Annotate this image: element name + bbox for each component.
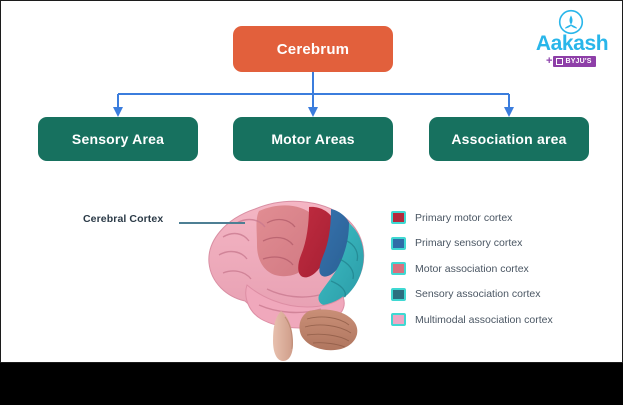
screenshot-root: Cerebrum Sensory Area Motor Areas Associ… bbox=[0, 0, 623, 405]
logo-byjus-label: BYJU'S bbox=[553, 56, 595, 67]
legend-item-primary-motor-cortex: Primary motor cortex bbox=[391, 205, 591, 231]
brain-illustration bbox=[197, 193, 387, 361]
byjus-square-icon bbox=[556, 58, 563, 65]
legend-swatch-primary-motor-cortex bbox=[391, 211, 406, 224]
legend-label-primary-motor-cortex: Primary motor cortex bbox=[415, 212, 512, 224]
legend: Primary motor cortex Primary sensory cor… bbox=[391, 205, 591, 333]
legend-swatch-sensory-association-cortex bbox=[391, 288, 406, 301]
flow-node-cerebrum[interactable]: Cerebrum bbox=[233, 26, 393, 72]
legend-swatch-multimodal-association-cortex bbox=[391, 313, 406, 326]
bottom-black-bar bbox=[0, 363, 623, 405]
flow-node-sensory-area[interactable]: Sensory Area bbox=[38, 117, 198, 161]
legend-item-motor-association-cortex: Motor association cortex bbox=[391, 256, 591, 282]
flow-node-motor-areas[interactable]: Motor Areas bbox=[233, 117, 393, 161]
flow-node-association-area[interactable]: Association area bbox=[429, 117, 589, 161]
byjus-text: BYJU'S bbox=[565, 58, 591, 65]
legend-item-multimodal-association-cortex: Multimodal association cortex bbox=[391, 307, 591, 333]
slide-canvas: Cerebrum Sensory Area Motor Areas Associ… bbox=[0, 0, 623, 363]
legend-swatch-primary-sensory-cortex bbox=[391, 237, 406, 250]
legend-label-motor-association-cortex: Motor association cortex bbox=[415, 263, 529, 275]
legend-swatch-motor-association-cortex bbox=[391, 262, 406, 275]
legend-label-multimodal-association-cortex: Multimodal association cortex bbox=[415, 314, 553, 326]
legend-label-primary-sensory-cortex: Primary sensory cortex bbox=[415, 237, 522, 249]
legend-item-primary-sensory-cortex: Primary sensory cortex bbox=[391, 231, 591, 257]
cerebral-cortex-callout-label: Cerebral Cortex bbox=[83, 213, 163, 225]
logo-partner-badge: + BYJU'S bbox=[546, 56, 596, 67]
brain-diagram-icon bbox=[197, 193, 387, 361]
aakash-byjus-logo: Aakash + BYJU'S bbox=[531, 9, 613, 71]
logo-plus-sign: + bbox=[546, 56, 552, 67]
legend-label-sensory-association-cortex: Sensory association cortex bbox=[415, 288, 540, 300]
logo-wordmark: Aakash bbox=[531, 33, 613, 55]
cerebral-cortex-leader-line bbox=[179, 222, 245, 224]
legend-item-sensory-association-cortex: Sensory association cortex bbox=[391, 282, 591, 308]
